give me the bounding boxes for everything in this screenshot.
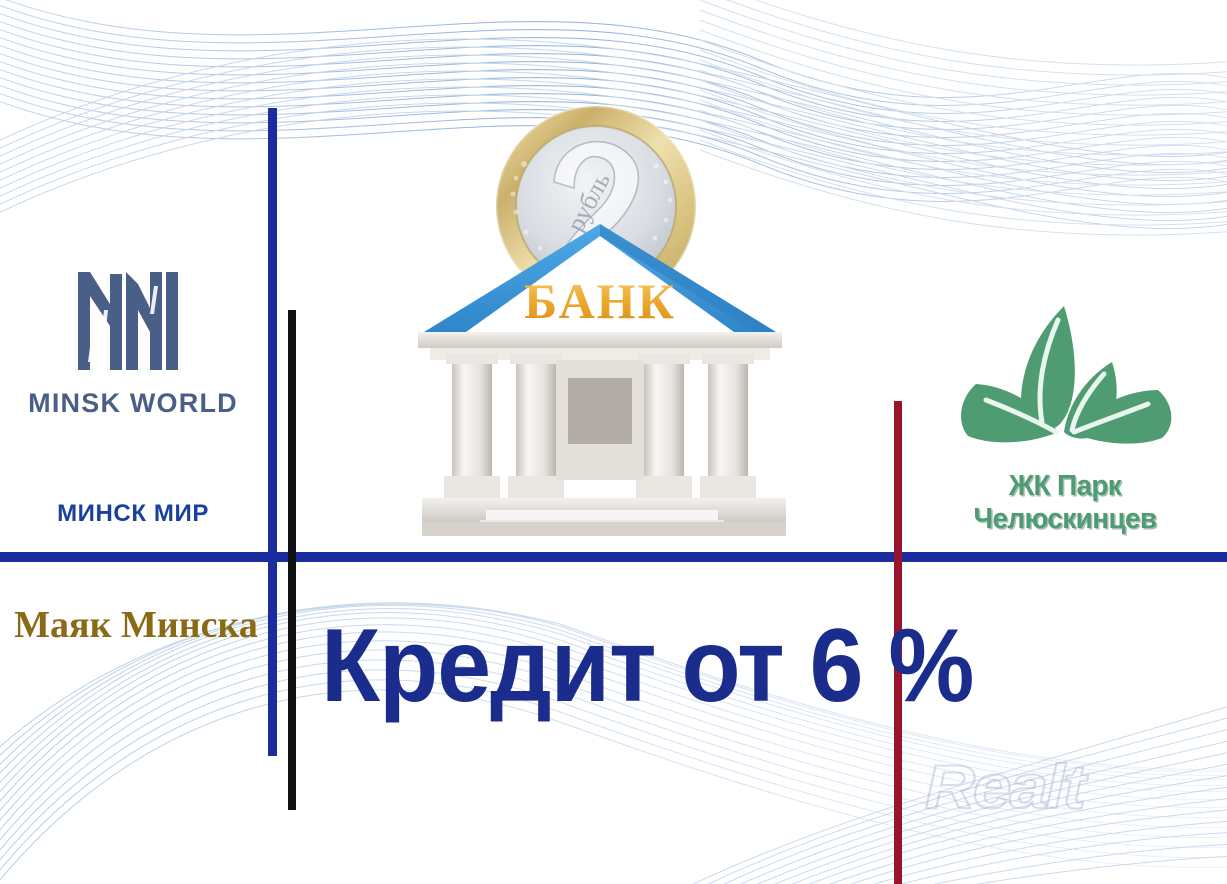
headline-credit-offer: Кредит от 6 %	[321, 612, 879, 721]
park-chelyuskintsev-block: ЖК Парк Челюскинцев	[910, 300, 1220, 536]
park-chelyuskintsev-label: ЖК Парк Челюскинцев	[916, 470, 1214, 536]
divider-vertical-blue	[268, 108, 277, 756]
bank-doorway	[568, 378, 632, 444]
credit-offer-banner: MINSK WORLD МИНСК МИР Маяк Минска	[0, 0, 1227, 884]
minsk-world-logo-block: MINSK WORLD	[18, 270, 248, 419]
mayak-minska-label: Маяк Минска	[10, 603, 262, 647]
mw-monogram-icon	[74, 270, 192, 374]
minsk-world-subtitle: МИНСК МИР	[18, 500, 248, 528]
minsk-world-brand-name: MINSK WORLD	[18, 388, 248, 419]
green-leaves-icon	[946, 300, 1184, 464]
realt-watermark: Realt	[925, 752, 1084, 823]
bank-pediment-label: БАНК	[524, 273, 676, 329]
divider-horizontal-blue	[0, 552, 1227, 562]
bank-building-with-coin-illustration: рубль БАНК	[404, 96, 804, 536]
divider-vertical-black	[288, 310, 296, 810]
